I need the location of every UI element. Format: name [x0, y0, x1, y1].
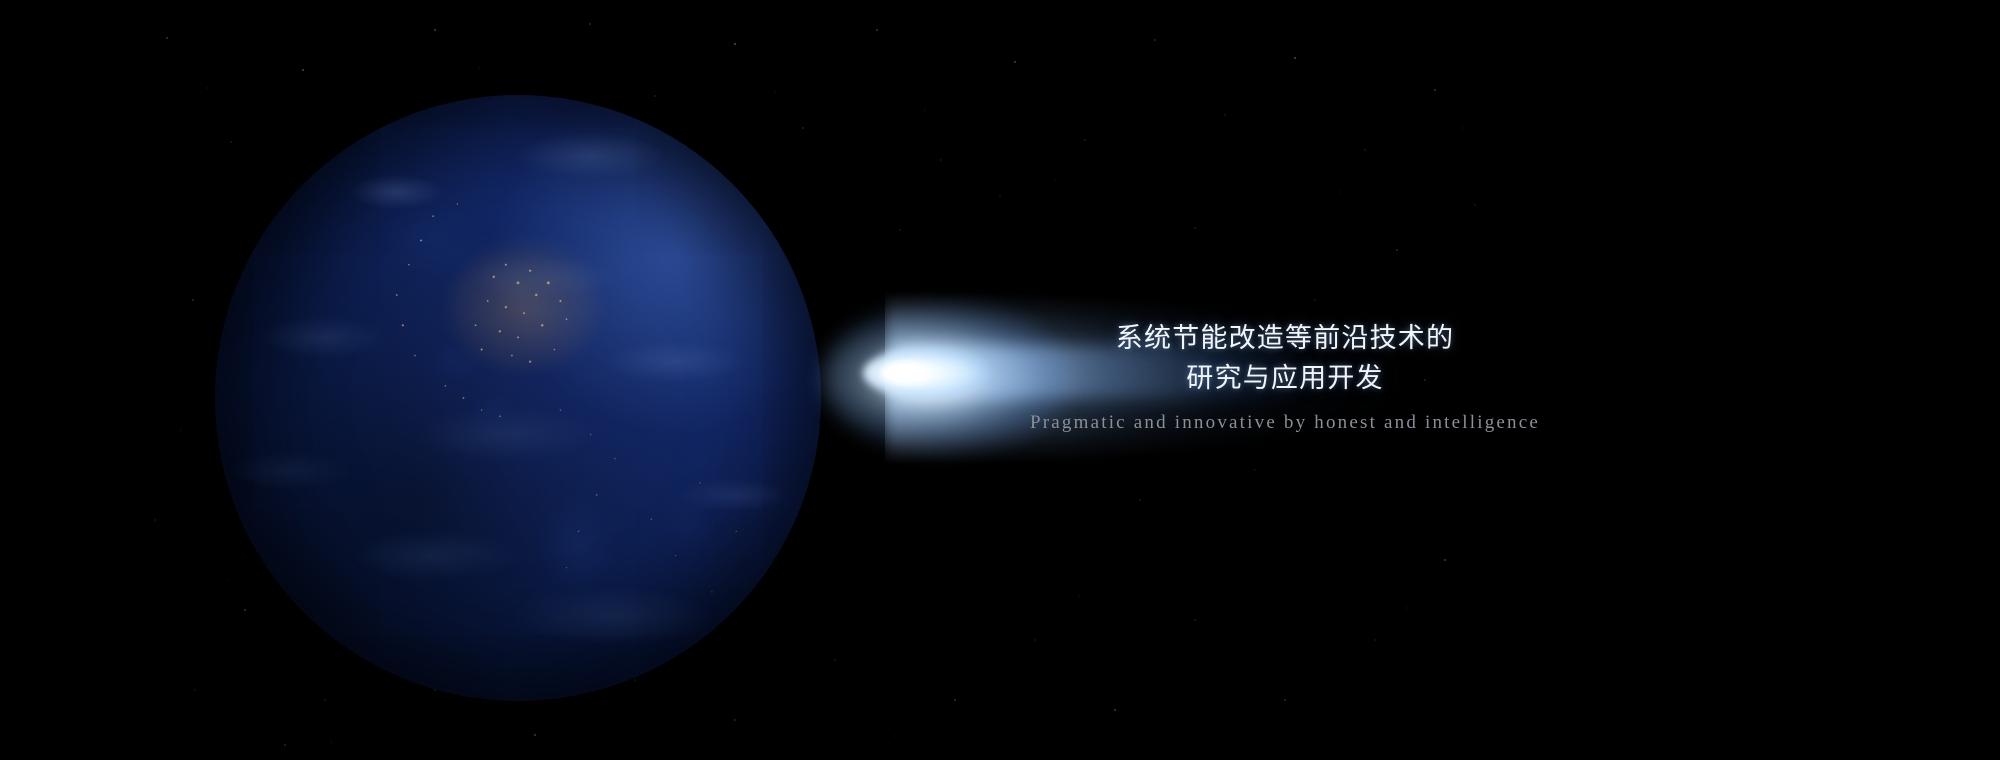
headline-line-2: 研究与应用开发 — [880, 358, 1690, 398]
earth-globe — [215, 95, 821, 701]
caption-block: 系统节能改造等前沿技术的 研究与应用开发 Pragmatic and innov… — [880, 318, 1690, 434]
headline-line-1: 系统节能改造等前沿技术的 — [880, 318, 1690, 358]
subtitle-tagline: Pragmatic and innovative by honest and i… — [880, 412, 1690, 434]
banner-stage: 系统节能改造等前沿技术的 研究与应用开发 Pragmatic and innov… — [0, 0, 2000, 760]
atmosphere-limb-icon — [213, 93, 823, 703]
